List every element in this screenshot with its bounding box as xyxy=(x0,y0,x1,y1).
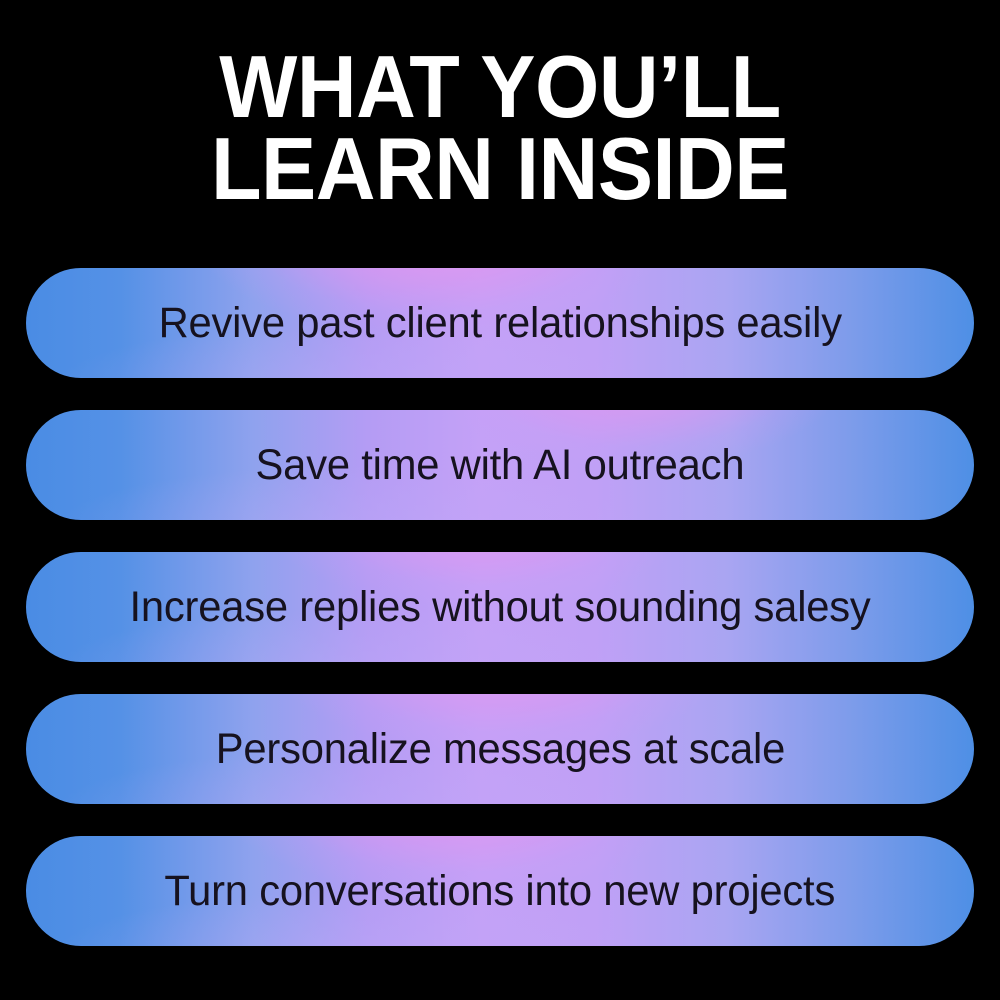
page-title-line-1: WHAT YOU’LL xyxy=(30,46,970,128)
benefit-pill-label: Revive past client relationships easily xyxy=(158,302,841,345)
benefit-pill-4[interactable]: Personalize messages at scale xyxy=(26,694,974,804)
benefit-pill-label: Increase replies without sounding salesy xyxy=(129,586,870,629)
poster-canvas: WHAT YOU’LL LEARN INSIDE Revive past cli… xyxy=(0,0,1000,1000)
benefit-pill-label: Personalize messages at scale xyxy=(215,728,784,771)
benefit-pill-5[interactable]: Turn conversations into new projects xyxy=(26,836,974,946)
benefit-pill-list: Revive past client relationships easily … xyxy=(26,268,974,946)
benefit-pill-2[interactable]: Save time with AI outreach xyxy=(26,410,974,520)
page-title-line-2: LEARN INSIDE xyxy=(30,128,970,210)
benefit-pill-label: Save time with AI outreach xyxy=(256,444,745,487)
benefit-pill-3[interactable]: Increase replies without sounding salesy xyxy=(26,552,974,662)
page-title: WHAT YOU’LL LEARN INSIDE xyxy=(0,46,1000,210)
benefit-pill-label: Turn conversations into new projects xyxy=(165,870,836,913)
benefit-pill-1[interactable]: Revive past client relationships easily xyxy=(26,268,974,378)
